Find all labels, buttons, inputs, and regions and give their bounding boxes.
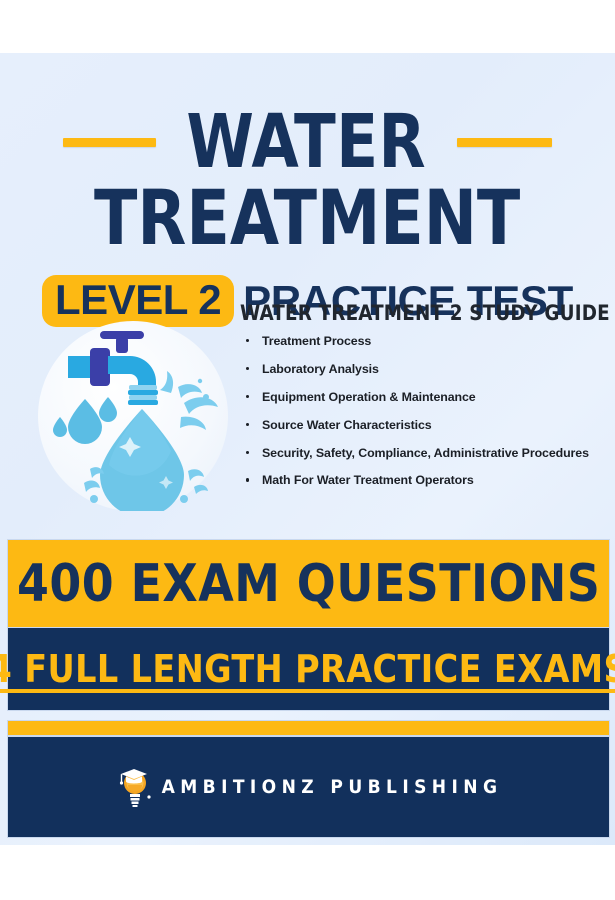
covers-heading: WATER TREATMENT 2 STUDY GUIDE COVERS <box>240 301 594 325</box>
publisher-yellow-bar <box>7 720 610 736</box>
faucet-water-drop-illustration <box>38 321 228 511</box>
list-item-label: Security, Safety, Compliance, Administra… <box>262 446 589 460</box>
exam-questions-label: 400 EXAM QUESTIONS <box>17 558 600 610</box>
practice-exams-label: 4 FULL LENGTH PRACTICE EXAMS <box>0 650 615 688</box>
list-item: Security, Safety, Compliance, Administra… <box>240 446 594 462</box>
publisher-banner: AMBITIONZ PUBLISHING <box>7 736 610 838</box>
exam-questions-banner: 400 EXAM QUESTIONS <box>7 539 610 628</box>
list-item-label: Math For Water Treatment Operators <box>262 473 474 487</box>
bullet-dot-icon <box>246 478 249 481</box>
list-item: Source Water Characteristics <box>240 418 594 434</box>
study-guide-covers-panel: WATER TREATMENT 2 STUDY GUIDE COVERS Tre… <box>240 301 605 501</box>
list-item: Math For Water Treatment Operators <box>240 473 594 489</box>
practice-exams-banner: 4 FULL LENGTH PRACTICE EXAMS <box>7 627 610 711</box>
title-line-water-row: WATER <box>0 105 615 179</box>
bullet-dot-icon <box>246 395 249 398</box>
bullet-dot-icon <box>246 451 249 454</box>
list-item-label: Laboratory Analysis <box>262 362 379 376</box>
list-item: Laboratory Analysis <box>240 362 594 378</box>
publisher-name: AMBITIONZ PUBLISHING <box>162 776 503 798</box>
title-line-2: TREATMENT <box>94 185 520 250</box>
graduation-cap-lightbulb-icon <box>115 765 153 809</box>
level-badge: LEVEL 2 <box>42 275 234 327</box>
bullet-dot-icon <box>246 367 249 370</box>
bullet-dot-icon <box>246 423 249 426</box>
faucet-water-drop-icon <box>38 321 228 511</box>
yellow-dash-left-icon <box>63 138 156 147</box>
bullet-dot-icon <box>246 339 249 342</box>
yellow-dash-right-icon <box>457 138 552 147</box>
title-line-treatment-row: TREATMENT <box>0 185 615 250</box>
list-item: Treatment Process <box>240 334 594 350</box>
covers-list: Treatment Process Laboratory Analysis Eq… <box>240 334 605 489</box>
list-item-label: Treatment Process <box>262 334 371 348</box>
publisher-logo-group: AMBITIONZ PUBLISHING <box>115 765 503 809</box>
list-item-label: Source Water Characteristics <box>262 418 432 432</box>
list-item-label: Equipment Operation & Maintenance <box>262 390 476 404</box>
title-line-1: WATER <box>187 111 427 173</box>
book-cover: WATER TREATMENT LEVEL 2 PRACTICE TEST <box>0 53 615 845</box>
list-item: Equipment Operation & Maintenance <box>240 390 594 406</box>
